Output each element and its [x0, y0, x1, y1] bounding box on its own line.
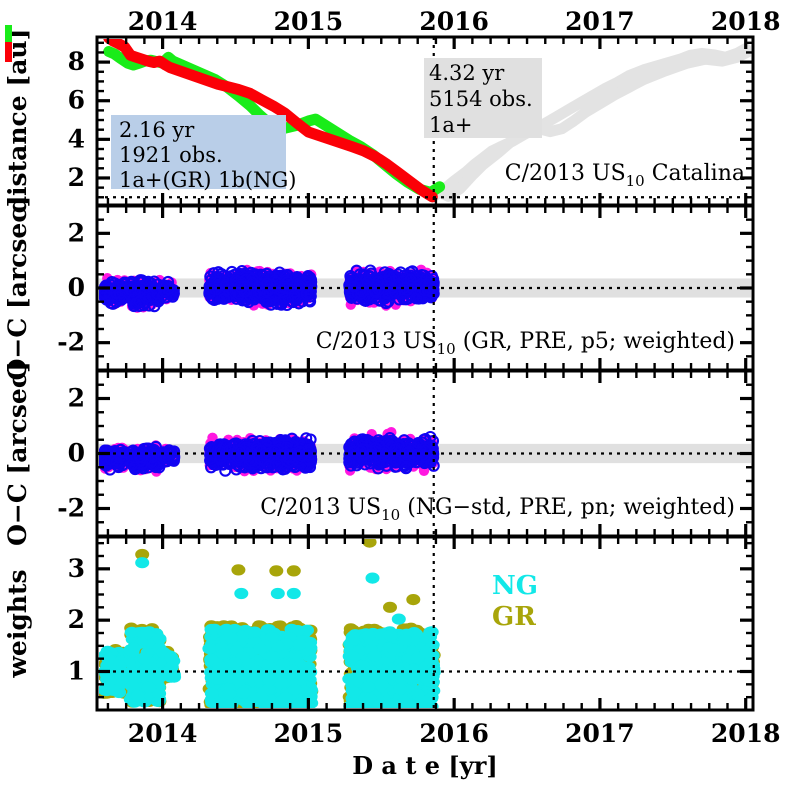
top-axis-year-label: 2014: [128, 7, 198, 36]
y-tick-label: 6: [68, 86, 85, 115]
panel-3-plot: [97, 427, 753, 477]
blue-annotation-line: 2.16 yr: [119, 118, 195, 142]
multipanel-chart: 2468201420152016201720182.16 yr1921 obs.…: [0, 0, 797, 797]
y-tick-label: 2: [68, 218, 85, 247]
y-tick-label: 4: [68, 124, 85, 153]
caption-subscript: 10: [437, 340, 456, 358]
figure-root: 2468201420152016201720182.16 yr1921 obs.…: [0, 0, 797, 797]
panel-1-caption: C/2013 US10 Catalina: [505, 161, 745, 190]
y-tick-label: -2: [57, 328, 85, 357]
y-tick-label: 2: [68, 163, 85, 192]
top-axis-year-label: 2015: [274, 7, 344, 36]
corner-marker-red: [5, 42, 12, 62]
panel-2-plot: [97, 265, 753, 313]
y-tick-label: 8: [68, 47, 85, 76]
gray-annotation-line: 4.32 yr: [429, 61, 505, 85]
caption-text: C/2013 US: [505, 161, 626, 186]
top-axis-year-label: 2017: [565, 7, 635, 36]
corner-marker-green: [5, 25, 12, 42]
top-axis-year-label: 2018: [711, 7, 781, 36]
caption-text: (GR, PRE, p5; weighted): [456, 329, 735, 354]
caption-subscript: 10: [626, 172, 645, 190]
panel-2-y-axis-label: O−C [arcsec]: [3, 196, 32, 381]
blue-annotation-line: 1921 obs.: [119, 143, 223, 167]
gray-annotation-line: 1a+: [429, 113, 472, 137]
top-axis-year-label: 2016: [419, 7, 489, 36]
gray-annotation-line: 5154 obs.: [429, 87, 533, 111]
caption-text: C/2013 US: [316, 329, 437, 354]
blue-annotation-line: 1a+(GR) 1b(NG): [119, 168, 296, 192]
caption-text: Catalina: [645, 161, 745, 186]
y-tick-label: 0: [68, 273, 85, 302]
panel-2-caption: C/2013 US10 (GR, PRE, p5; weighted): [316, 329, 735, 358]
